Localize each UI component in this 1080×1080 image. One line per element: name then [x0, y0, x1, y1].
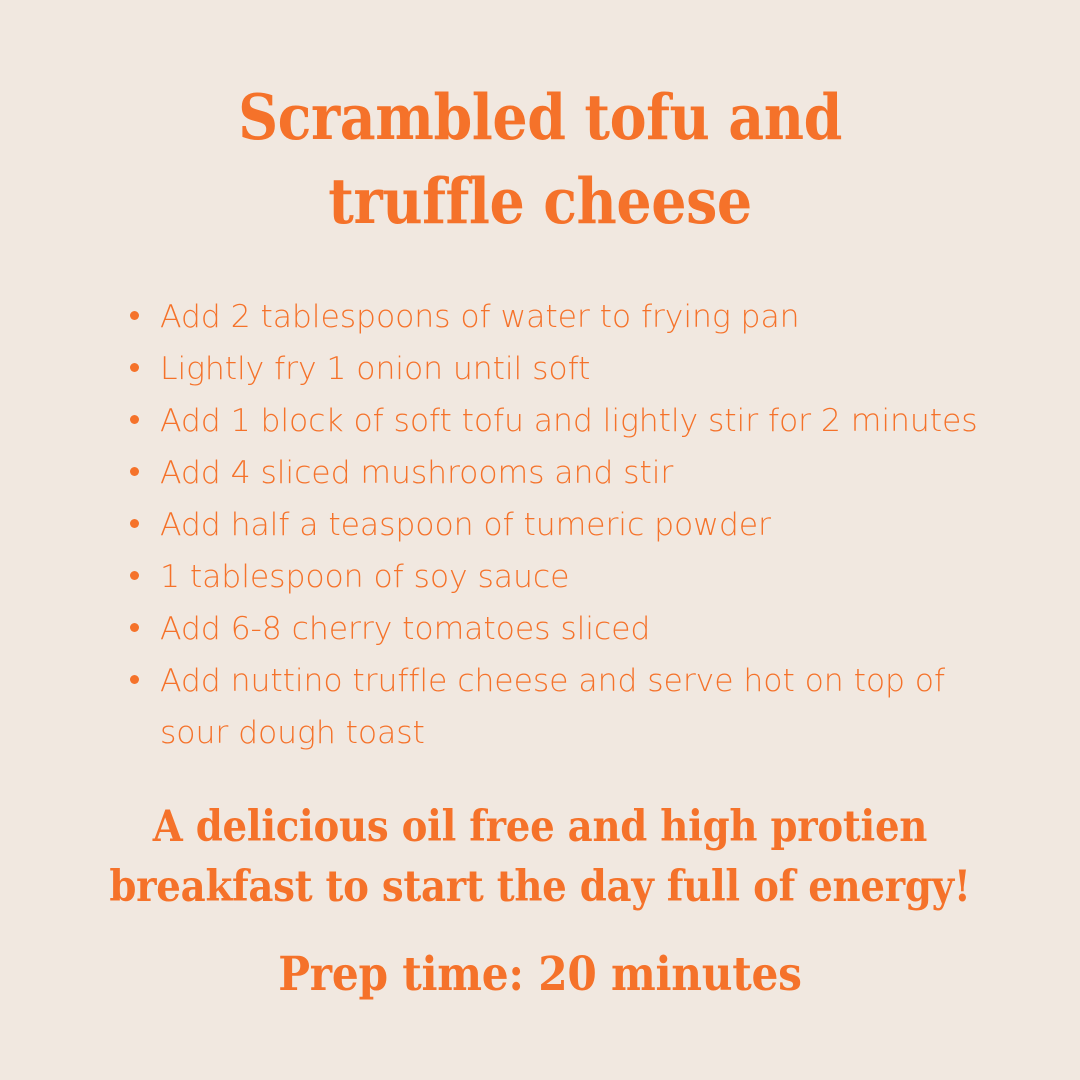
list-item-label: Add nuttino truffle cheese and serve hot…	[160, 663, 945, 751]
bullet-icon	[130, 363, 139, 372]
bullet-icon	[130, 311, 139, 320]
list-item: Add nuttino truffle cheese and serve hot…	[130, 655, 1000, 759]
list-item: Add 2 tablespoons of water to frying pan	[130, 291, 1000, 343]
prep-time-label: Prep time: 20 minutes	[108, 947, 972, 1003]
list-item-label: Add 4 sliced mushrooms and stir	[160, 455, 673, 491]
recipe-footer: A delicious oil free and high protien br…	[0, 759, 1080, 1004]
list-item: Lightly fry 1 onion until soft	[130, 343, 1000, 395]
bullet-icon	[130, 519, 139, 528]
list-item: Add 6-8 cherry tomatoes sliced	[130, 603, 1000, 655]
list-item: Add half a teaspoon of tumeric powder	[130, 499, 1000, 551]
bullet-icon	[130, 623, 139, 632]
recipe-card: Scrambled tofu and truffle cheese Add 2 …	[0, 0, 1080, 1080]
steps-list: Add 2 tablespoons of water to frying pan…	[130, 291, 1000, 759]
list-item-label: Add half a teaspoon of tumeric powder	[160, 507, 771, 543]
list-item-label: 1 tablespoon of soy sauce	[160, 559, 569, 595]
bullet-icon	[130, 467, 139, 476]
tagline: A delicious oil free and high protien br…	[108, 797, 972, 917]
list-item-label: Lightly fry 1 onion until soft	[160, 351, 590, 387]
list-item: 1 tablespoon of soy sauce	[130, 551, 1000, 603]
list-item-label: Add 2 tablespoons of water to frying pan	[160, 299, 800, 335]
bullet-icon	[130, 415, 139, 424]
list-item-label: Add 6-8 cherry tomatoes sliced	[160, 611, 650, 647]
bullet-icon	[130, 571, 139, 580]
list-item: Add 4 sliced mushrooms and stir	[130, 447, 1000, 499]
bullet-icon	[130, 675, 139, 684]
list-item-label: Add 1 block of soft tofu and lightly sti…	[160, 403, 978, 439]
page-title: Scrambled tofu and truffle cheese	[65, 0, 1015, 244]
list-item: Add 1 block of soft tofu and lightly sti…	[130, 395, 1000, 447]
recipe-steps-section: Add 2 tablespoons of water to frying pan…	[0, 244, 1080, 759]
